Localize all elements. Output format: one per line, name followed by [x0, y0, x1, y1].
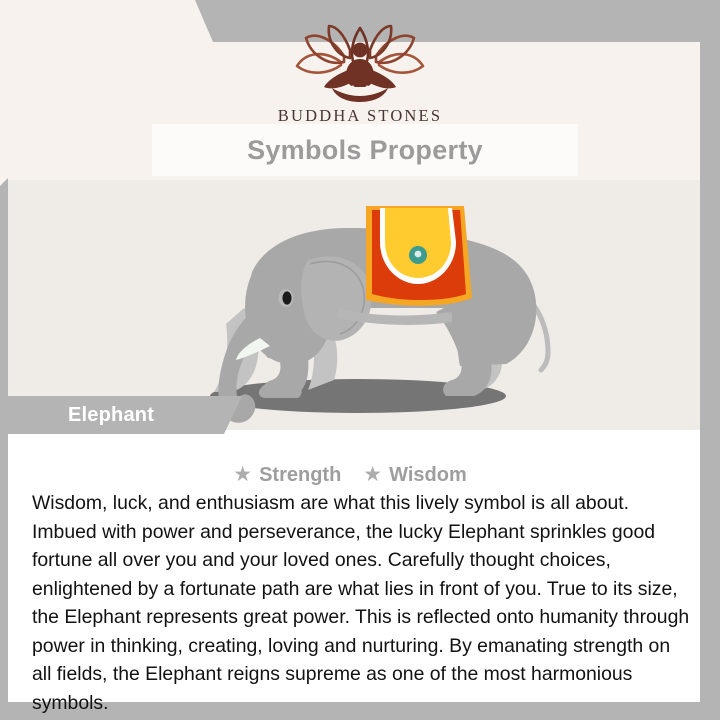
symbol-name: Elephant [68, 404, 154, 427]
traits-row: ★ Strength ★ Wisdom [0, 464, 700, 487]
brand-logo: BUDDHA STONES [0, 22, 720, 126]
page-title: Symbols Property [247, 135, 483, 166]
symbols-property-infographic: BUDDHA STONES Symbols Property [0, 0, 720, 720]
star-icon: ★ [363, 464, 382, 485]
trait-label-strength: Strength [259, 464, 341, 487]
symbol-description: Wisdom, luck, and enthusiasm are what th… [32, 489, 692, 717]
star-icon: ★ [233, 464, 252, 485]
title-banner: Symbols Property [152, 124, 578, 176]
trait-label-wisdom: Wisdom [389, 464, 467, 487]
illustration-panel [8, 180, 700, 430]
brand-wordmark: BUDDHA STONES [0, 106, 720, 126]
frame-left-bar-fill [0, 186, 8, 720]
walking-elephant-illustration [8, 180, 700, 430]
saddle-gem-highlight [415, 251, 422, 258]
trait-strength: ★ Strength [233, 464, 341, 487]
trait-wisdom: ★ Wisdom [363, 464, 466, 487]
elephant-eye [282, 291, 291, 304]
saddle-yellow-field [385, 208, 451, 278]
symbol-name-banner: Elephant [8, 396, 242, 434]
lotus-meditation-icon [284, 22, 436, 104]
